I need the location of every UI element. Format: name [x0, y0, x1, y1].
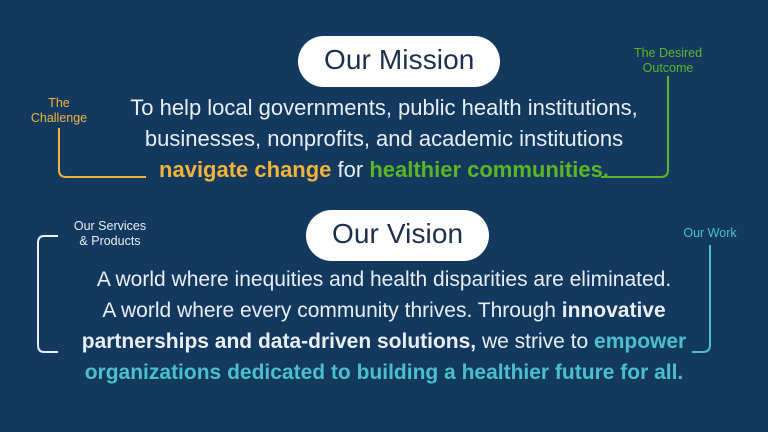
mission-line-3-connector: for	[331, 157, 369, 182]
vision-line-2-plain: A world where every community thrives. T…	[102, 299, 561, 322]
vision-highlight-innovative: innovative	[562, 299, 666, 322]
mission-line-2: businesses, nonprofits, and academic ins…	[0, 123, 768, 154]
vision-highlight-empower: empower	[594, 330, 686, 353]
vision-line-3: partnerships and data-driven solutions, …	[0, 326, 768, 357]
annotation-services-line-1: Our Services	[62, 219, 158, 234]
mission-highlight-challenge: navigate change	[159, 157, 331, 182]
annotation-challenge: The Challenge	[16, 96, 102, 126]
mission-line-1: To help local governments, public health…	[0, 92, 768, 123]
vision-pill-title: Our Vision	[306, 210, 489, 261]
vision-highlight-partnerships: partnerships and data-driven solutions,	[82, 330, 476, 353]
mission-line-3: navigate change for healthier communitie…	[0, 154, 768, 185]
annotation-challenge-line-2: Challenge	[16, 111, 102, 126]
annotation-our-work: Our Work	[672, 226, 748, 241]
annotation-challenge-line-1: The	[16, 96, 102, 111]
annotation-services-line-2: & Products	[62, 234, 158, 249]
vision-line-2: A world where every community thrives. T…	[0, 295, 768, 326]
vision-statement: A world where inequities and health disp…	[0, 264, 768, 388]
vision-line-4: organizations dedicated to building a he…	[0, 357, 768, 388]
mission-statement: To help local governments, public health…	[0, 92, 768, 185]
annotation-services-products: Our Services & Products	[62, 219, 158, 249]
slide-canvas: Our Mission To help local governments, p…	[0, 0, 768, 432]
annotation-outcome-line-2: Outcome	[620, 61, 716, 76]
vision-line-1: A world where inequities and health disp…	[0, 264, 768, 295]
mission-pill-title: Our Mission	[298, 36, 500, 87]
annotation-desired-outcome: The Desired Outcome	[620, 46, 716, 76]
vision-line-3-plain: we strive to	[476, 330, 594, 353]
mission-highlight-outcome: healthier communities.	[369, 157, 609, 182]
annotation-outcome-line-1: The Desired	[620, 46, 716, 61]
